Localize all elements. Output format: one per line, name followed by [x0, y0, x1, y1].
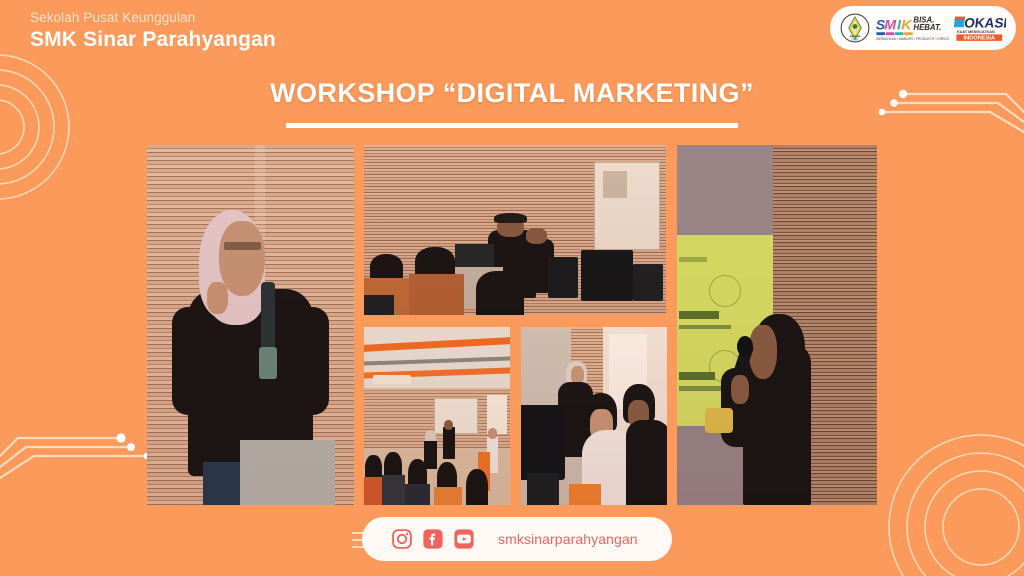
- photo-collage: [0, 0, 1024, 576]
- photo-classroom-presenter-front: [364, 145, 666, 315]
- social-media-bar[interactable]: smksinarparahyangan: [362, 517, 672, 561]
- youtube-icon[interactable]: [453, 528, 475, 550]
- social-handle: smksinarparahyangan: [498, 531, 638, 547]
- photo-teacher-with-students: [521, 327, 667, 505]
- facebook-icon[interactable]: [422, 528, 444, 550]
- instagram-icon[interactable]: [391, 528, 413, 550]
- photo-speaker-hijab-microphone: [147, 145, 354, 505]
- photo-classroom-wide-audience: [364, 327, 510, 505]
- photo-speaker-projection-screen: [677, 145, 877, 505]
- slide-canvas: Sekolah Pusat Keunggulan SMK Sinar Parah…: [0, 0, 1024, 576]
